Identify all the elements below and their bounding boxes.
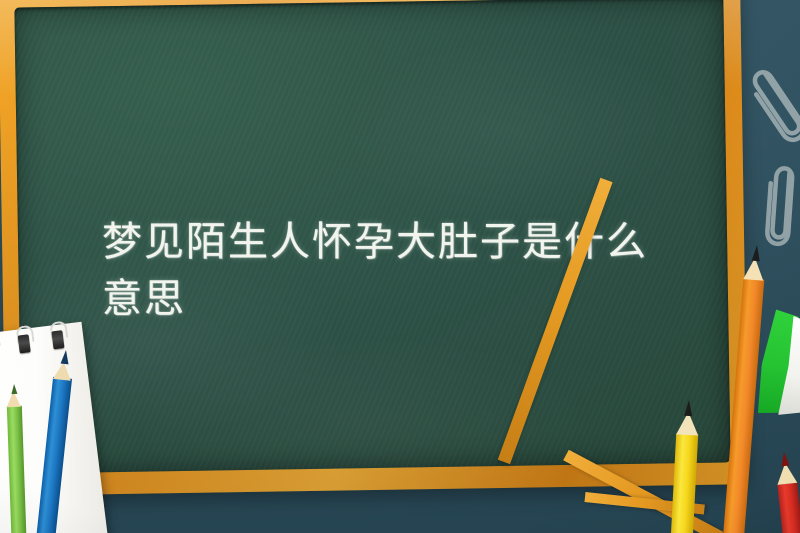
pencil-blue-wood [53, 361, 73, 381]
pencil-green-lead [11, 384, 17, 394]
ring-icon [18, 334, 31, 353]
ring-icon [51, 330, 64, 349]
pencil-red-lead [780, 452, 789, 467]
pencil-orange-lead [751, 245, 760, 262]
chalk-text: 梦见陌生人怀孕大肚子是什么意思 [102, 214, 682, 328]
scene-root: 梦见陌生人怀孕大肚子是什么意思 [0, 0, 800, 533]
ring-arc-icon [0, 329, 1, 348]
pencil-yellow-lead [684, 400, 693, 416]
pencil-blue-lead [60, 350, 69, 365]
pencil-red-shaft [777, 483, 800, 533]
